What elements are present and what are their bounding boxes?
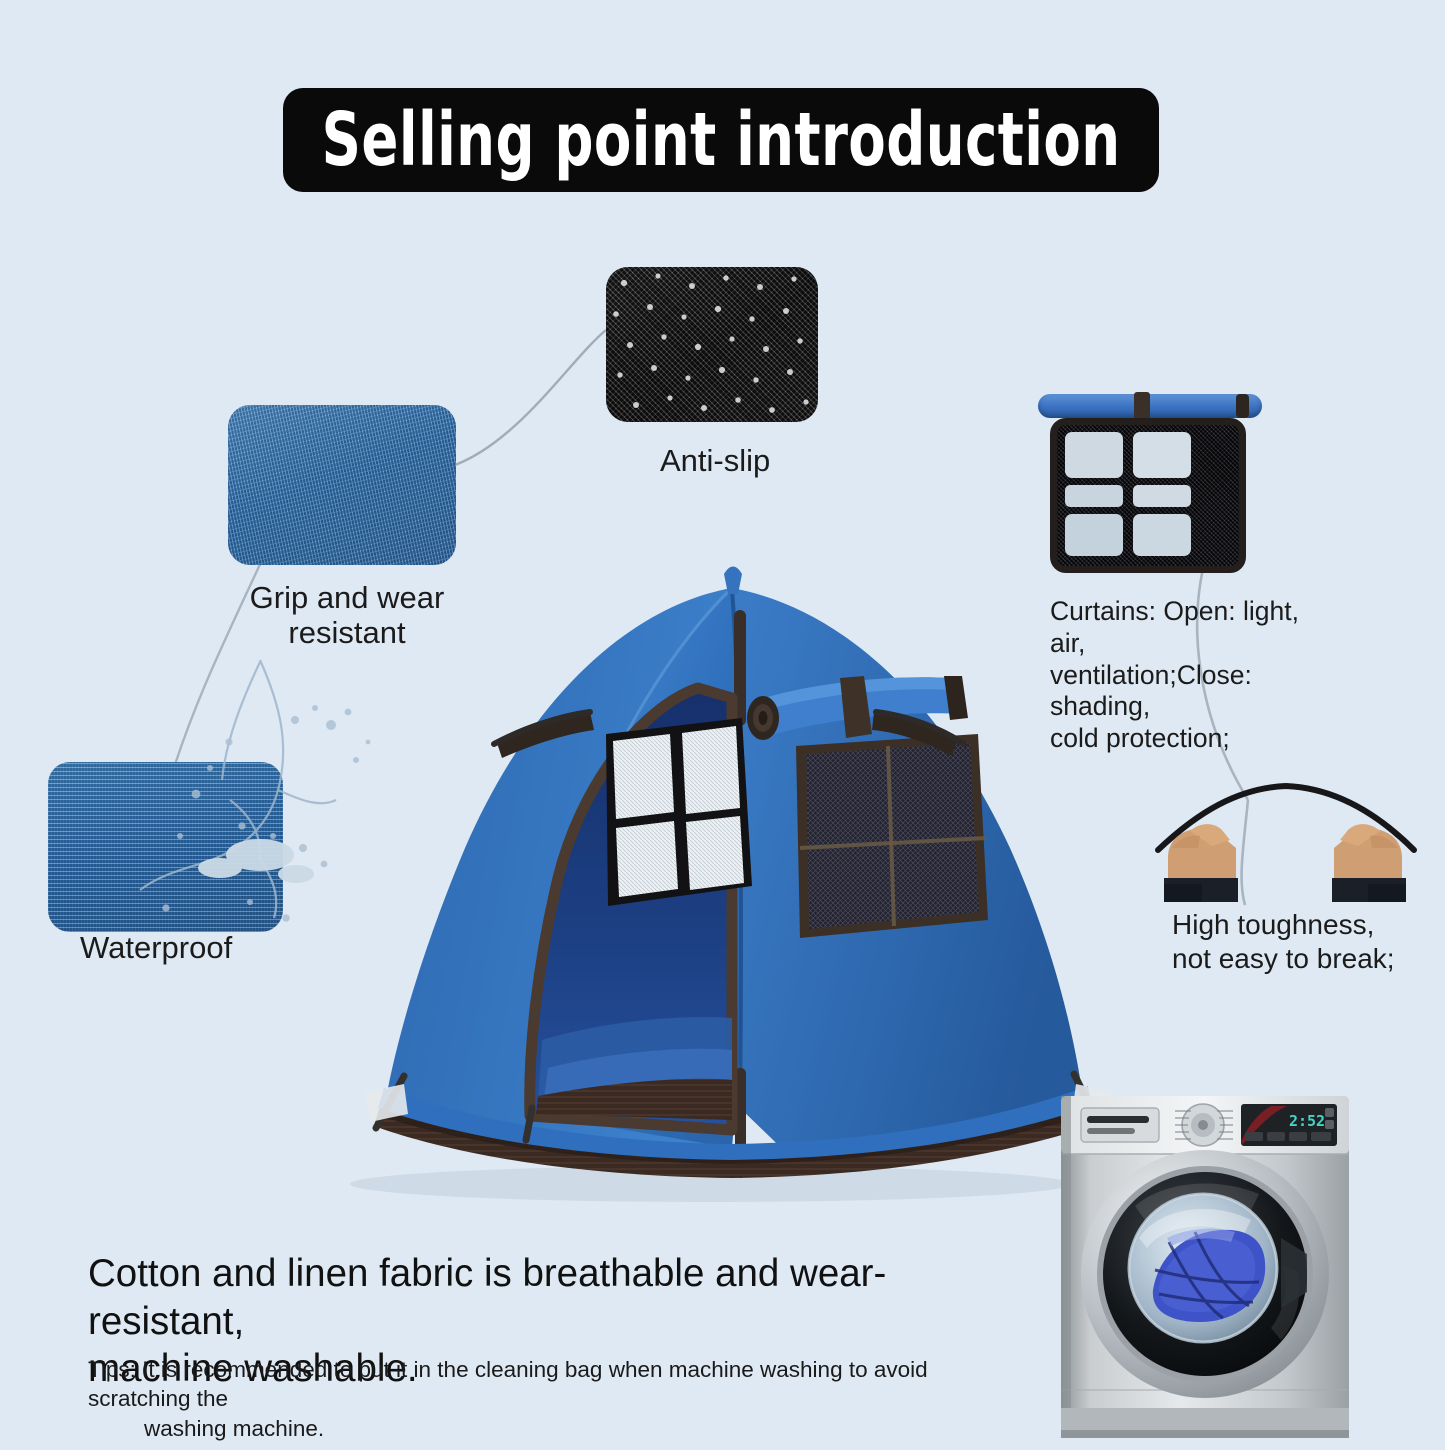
swatch-high-toughness — [1138, 752, 1428, 902]
infographic-canvas: Selling point introduction Anti-slip Gri… — [0, 0, 1445, 1445]
bottom-tip-line2: washing machine. — [88, 1414, 978, 1443]
bottom-headline-line1: Cotton and linen fabric is breathable an… — [88, 1252, 886, 1343]
caption-high-toughness: High toughness, not easy to break; — [1172, 908, 1432, 975]
bottom-tip-line1: Tips: It is recommended to put it in the… — [88, 1357, 928, 1411]
tent-illustration — [280, 548, 1140, 1208]
page-title-text: Selling point introduction — [322, 103, 1121, 177]
washing-machine-illustration: 2:52 — [1035, 1078, 1435, 1445]
rolled-curtain — [1038, 394, 1262, 418]
curtain-strap-right — [1236, 394, 1249, 418]
washing-machine: 2:52 — [1035, 1078, 1435, 1445]
product-tent — [280, 548, 1140, 1208]
swatch-anti-slip — [606, 267, 818, 422]
washer-display-value: 2:52 — [1289, 1112, 1325, 1130]
swatch-grip-and-wear — [228, 405, 456, 565]
bottom-tip: Tips: It is recommended to put it in the… — [88, 1355, 978, 1443]
antislip-dot-texture — [606, 267, 818, 422]
caption-anti-slip: Anti-slip — [660, 443, 900, 478]
curtain-strap-center — [1134, 392, 1150, 420]
page-title: Selling point introduction — [283, 88, 1159, 192]
